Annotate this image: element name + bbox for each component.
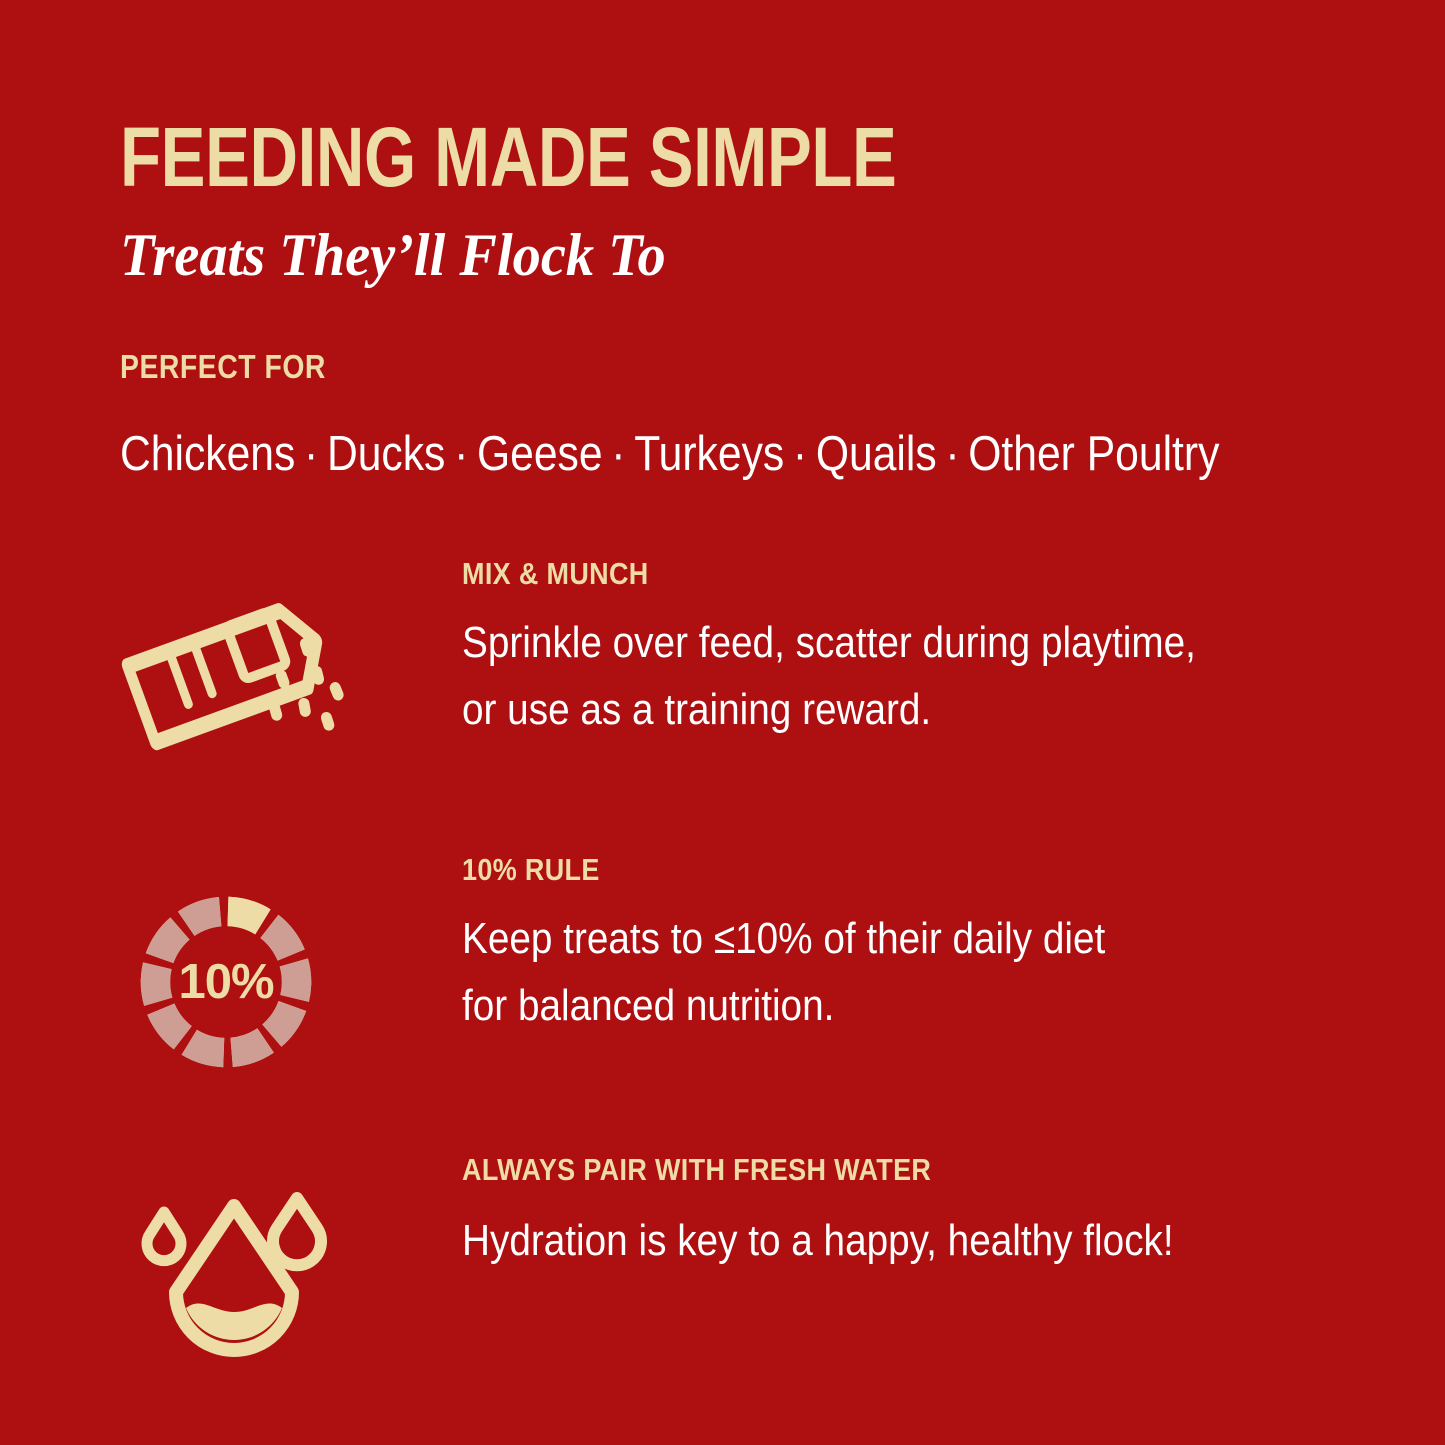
perfect-for-label: PERFECT FOR — [120, 348, 1221, 386]
sprinkle-pouch-icon — [0, 556, 462, 774]
feature-body-line: Hydration is key to a happy, healthy flo… — [462, 1208, 1274, 1275]
page-subtitle: Treats They’ll Flock To — [120, 197, 1304, 285]
species-item: Geese — [477, 427, 603, 481]
feature-heading: MIX & MUNCH — [462, 556, 1265, 592]
species-separator: · — [603, 427, 635, 481]
donut-ring: 10% — [128, 884, 324, 1080]
feature-body: Sprinkle over feed, scatter during playt… — [462, 592, 1274, 744]
feature-row: ALWAYS PAIR WITH FRESH WATER Hydration i… — [0, 1152, 1445, 1402]
feature-text: ALWAYS PAIR WITH FRESH WATER Hydration i… — [462, 1152, 1445, 1275]
feature-heading: ALWAYS PAIR WITH FRESH WATER — [462, 1152, 1265, 1188]
feature-text: MIX & MUNCH Sprinkle over feed, scatter … — [462, 556, 1445, 744]
feature-row: 10% 10% RULE Keep treats to ≤10% of thei… — [0, 852, 1445, 1152]
feature-body: Keep treats to ≤10% of their daily diet … — [462, 888, 1274, 1040]
feature-row: MIX & MUNCH Sprinkle over feed, scatter … — [0, 556, 1445, 852]
feature-body-line: or use as a training reward. — [462, 677, 1274, 744]
feature-text: 10% RULE Keep treats to ≤10% of their da… — [462, 852, 1445, 1040]
feature-body-line: for balanced nutrition. — [462, 973, 1274, 1040]
feature-body: Hydration is key to a happy, healthy flo… — [462, 1188, 1274, 1275]
page-title: FEEDING MADE SIMPLE — [120, 118, 1128, 197]
species-list: Chickens·Ducks·Geese·Turkeys·Quails·Othe… — [120, 386, 1234, 482]
species-separator: · — [295, 427, 327, 481]
feature-heading: 10% RULE — [462, 852, 1265, 888]
water-droplet-icon — [0, 1152, 462, 1384]
species-item: Chickens — [120, 427, 295, 481]
species-separator: · — [784, 427, 816, 481]
perfect-for-section: PERFECT FOR Chickens·Ducks·Geese·Turkeys… — [120, 348, 1400, 482]
species-separator: · — [937, 427, 969, 481]
header: FEEDING MADE SIMPLE Treats They’ll Flock… — [120, 118, 1380, 285]
feature-body-line: Sprinkle over feed, scatter during playt… — [462, 610, 1274, 677]
feature-list: MIX & MUNCH Sprinkle over feed, scatter … — [0, 556, 1445, 1402]
infographic-canvas: FEEDING MADE SIMPLE Treats They’ll Flock… — [0, 0, 1445, 1445]
species-item: Turkeys — [634, 427, 784, 481]
feature-body-line: Keep treats to ≤10% of their daily diet — [462, 906, 1274, 973]
species-item: Ducks — [327, 427, 445, 481]
percent-donut-icon: 10% — [0, 852, 462, 1080]
species-separator: · — [445, 427, 477, 481]
species-item: Quails — [816, 427, 937, 481]
species-item: Other Poultry — [968, 427, 1219, 481]
